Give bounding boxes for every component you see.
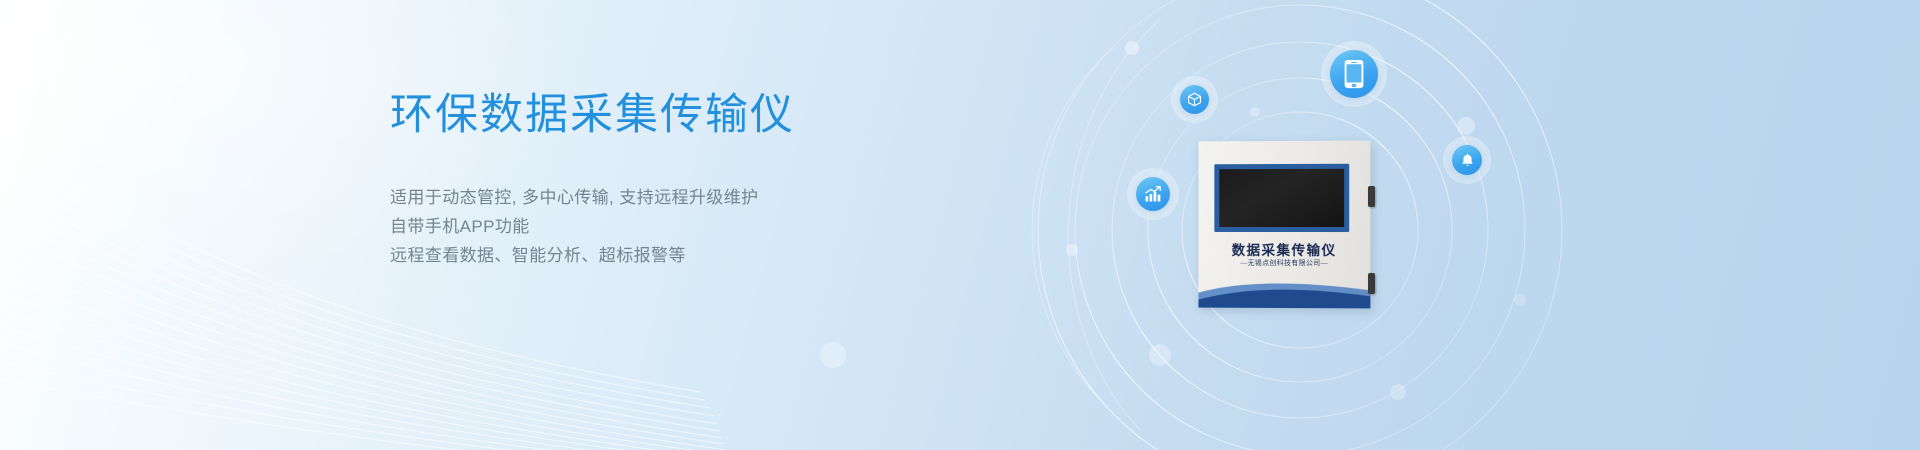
device-display xyxy=(1219,169,1344,227)
cube-icon-bubble[interactable] xyxy=(1180,85,1209,114)
mobile-phone-icon-bubble[interactable] xyxy=(1330,50,1378,98)
product-device-image: 数据采集传输仪 —无锡点创科技有限公司— xyxy=(1198,141,1370,308)
cube-icon xyxy=(1187,92,1202,107)
page-title: 环保数据采集传输仪 xyxy=(390,92,1030,139)
bar-chart-trend-icon-bubble[interactable] xyxy=(1136,177,1170,211)
banner-subtitle-line-1: 适用于动态管控, 多中心传输, 支持远程升级维护 xyxy=(390,183,1030,212)
alarm-bell-icon-bubble[interactable] xyxy=(1452,145,1482,175)
device-company-label: —无锡点创科技有限公司— xyxy=(1198,258,1370,268)
banner-subtitle-line-2: 自带手机APP功能 xyxy=(390,212,1030,241)
product-hero-banner: 环保数据采集传输仪 适用于动态管控, 多中心传输, 支持远程升级维护 自带手机A… xyxy=(0,0,1920,450)
bar-chart-trend-icon xyxy=(1144,185,1162,203)
banner-text-block: 环保数据采集传输仪 适用于动态管控, 多中心传输, 支持远程升级维护 自带手机A… xyxy=(390,92,1030,270)
device-hinge-top xyxy=(1368,186,1375,207)
banner-subtitle-line-3: 远程查看数据、智能分析、超标报警等 xyxy=(390,241,1030,270)
mobile-phone-icon xyxy=(1343,59,1365,89)
device-wave-graphic xyxy=(1198,274,1370,309)
device-cabinet: 数据采集传输仪 —无锡点创科技有限公司— xyxy=(1198,141,1370,309)
device-brand-label: 数据采集传输仪 xyxy=(1198,239,1370,259)
device-screen-bezel xyxy=(1214,164,1349,232)
alarm-bell-icon xyxy=(1460,153,1475,168)
device-hinge-bottom xyxy=(1368,273,1375,294)
